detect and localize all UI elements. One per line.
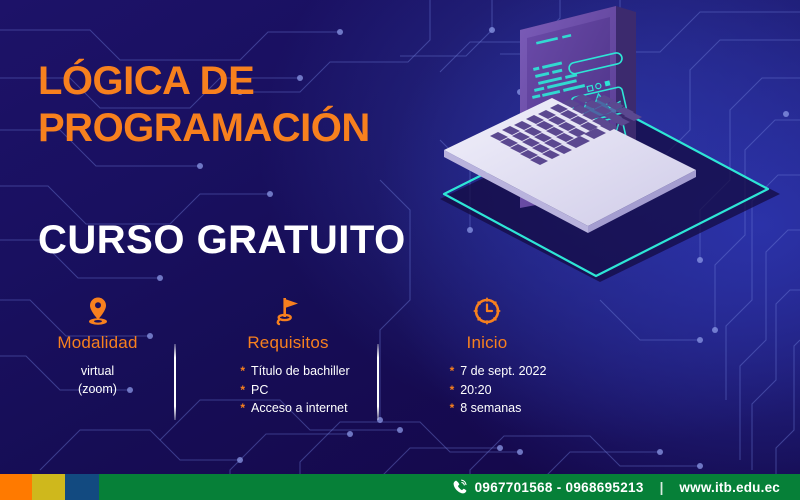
poster-subheadline: CURSO GRATUITO [38, 218, 406, 263]
footer-contact-strip: 0967701568 - 0968695213 | www.itb.edu.ec [99, 474, 800, 500]
info-line: *7 de sept. 2022 [450, 362, 547, 381]
info-column-body: *7 de sept. 2022 *20:20 *8 semanas [450, 362, 547, 418]
footer-bar: 0967701568 - 0968695213 | www.itb.edu.ec [0, 474, 800, 500]
info-line: *PC [240, 381, 349, 400]
info-column-title: Inicio [394, 333, 580, 353]
footer-website[interactable]: www.itb.edu.ec [679, 480, 780, 495]
info-line: *20:20 [450, 381, 547, 400]
footer-phone-numbers[interactable]: 0967701568 - 0968695213 [475, 480, 644, 495]
info-line-text: 8 semanas [460, 401, 521, 415]
location-pin-icon [10, 296, 185, 330]
info-line: *8 semanas [450, 399, 547, 418]
info-line: virtual [10, 362, 185, 380]
flag-icon [192, 296, 384, 330]
bullet-asterisk: * [450, 401, 455, 415]
info-column-title: Modalidad [10, 333, 185, 353]
info-line-text: PC [251, 383, 268, 397]
footer-swatch-orange [0, 474, 32, 500]
info-column-body: virtual (zoom) [10, 362, 185, 399]
info-line: *Título de bachiller [240, 362, 349, 381]
info-line-text: Acceso a internet [251, 401, 348, 415]
bullet-asterisk: * [240, 364, 245, 378]
bullet-asterisk: * [240, 383, 245, 397]
poster-headline: LÓGICA DE PROGRAMACIÓN [38, 58, 370, 152]
promo-poster: LÓGICA DE PROGRAMACIÓN CURSO GRATUITO Mo… [0, 0, 800, 500]
info-column-requisitos: Requisitos *Título de bachiller *PC *Acc… [192, 296, 384, 418]
phone-icon [452, 479, 468, 495]
info-column-modalidad: Modalidad virtual (zoom) [10, 296, 185, 399]
info-column-inicio: Inicio *7 de sept. 2022 *20:20 *8 semana… [394, 296, 580, 418]
info-columns: Modalidad virtual (zoom) Requisitos *Tít… [10, 296, 610, 436]
info-line: (zoom) [10, 380, 185, 398]
clock-icon [394, 296, 580, 330]
laptop-svg [420, 0, 800, 294]
info-column-body: *Título de bachiller *PC *Acceso a inter… [240, 362, 349, 418]
bullet-asterisk: * [450, 364, 455, 378]
info-line: *Acceso a internet [240, 399, 349, 418]
footer-swatch-blue [65, 474, 99, 500]
footer-separator: | [660, 480, 664, 495]
info-column-title: Requisitos [192, 333, 384, 353]
bullet-asterisk: * [240, 401, 245, 415]
info-line-text: 20:20 [460, 383, 491, 397]
bullet-asterisk: * [450, 383, 455, 397]
info-line-text: 7 de sept. 2022 [460, 364, 546, 378]
laptop-illustration [420, 0, 800, 294]
info-line-text: Título de bachiller [251, 364, 350, 378]
footer-swatch-gold [32, 474, 65, 500]
